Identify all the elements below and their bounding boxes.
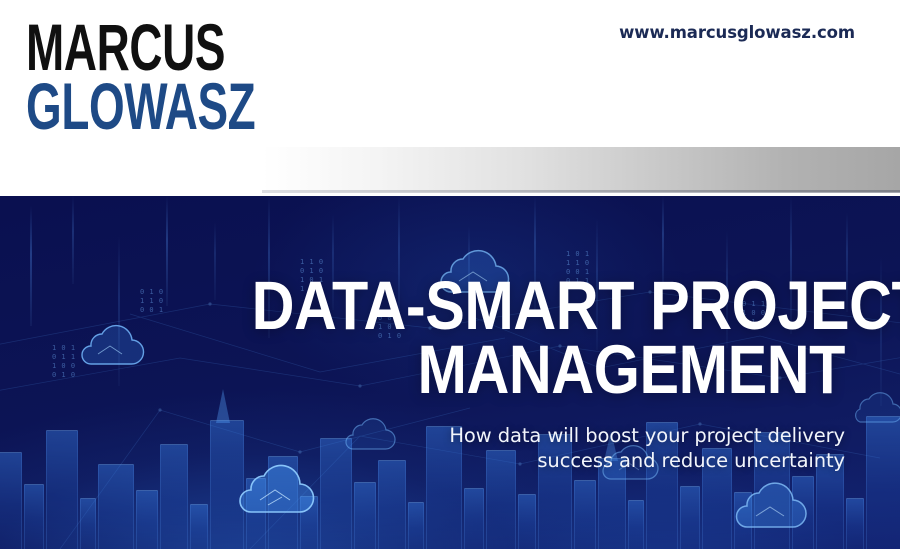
hero-title-line-2: MANAGEMENT [252,338,845,402]
brand-logo: MARCUS GLOWASZ [26,18,336,134]
cloud-icon [74,324,148,370]
cloud-icon [728,482,812,532]
cloud-icon [848,392,900,426]
hero-subtitle: How data will boost your project deliver… [155,424,845,474]
logo-text-marcus: MARCUS [26,18,255,78]
presentation-slide: MARCUS GLOWASZ www.marcusglowasz.com [0,0,900,549]
hero-title-line-1: DATA-SMART PROJECT [252,274,845,338]
hero-banner: 1 0 1 0 1 1 1 0 0 0 1 0 0 1 0 1 1 0 0 0 … [0,196,900,549]
hero-subtitle-line-1: How data will boost your project deliver… [155,424,845,449]
logo-text-glowasz: GLOWASZ [26,77,255,137]
website-url[interactable]: www.marcusglowasz.com [619,23,855,42]
hero-title: DATA-SMART PROJECT MANAGEMENT [252,274,845,402]
header-gradient-bar-shadow [262,190,900,193]
slide-header: MARCUS GLOWASZ www.marcusglowasz.com [0,0,900,196]
hero-text-block: DATA-SMART PROJECT MANAGEMENT How data w… [155,274,845,474]
header-gradient-bar [262,147,900,192]
hero-subtitle-line-2: success and reduce uncertainty [155,449,845,474]
